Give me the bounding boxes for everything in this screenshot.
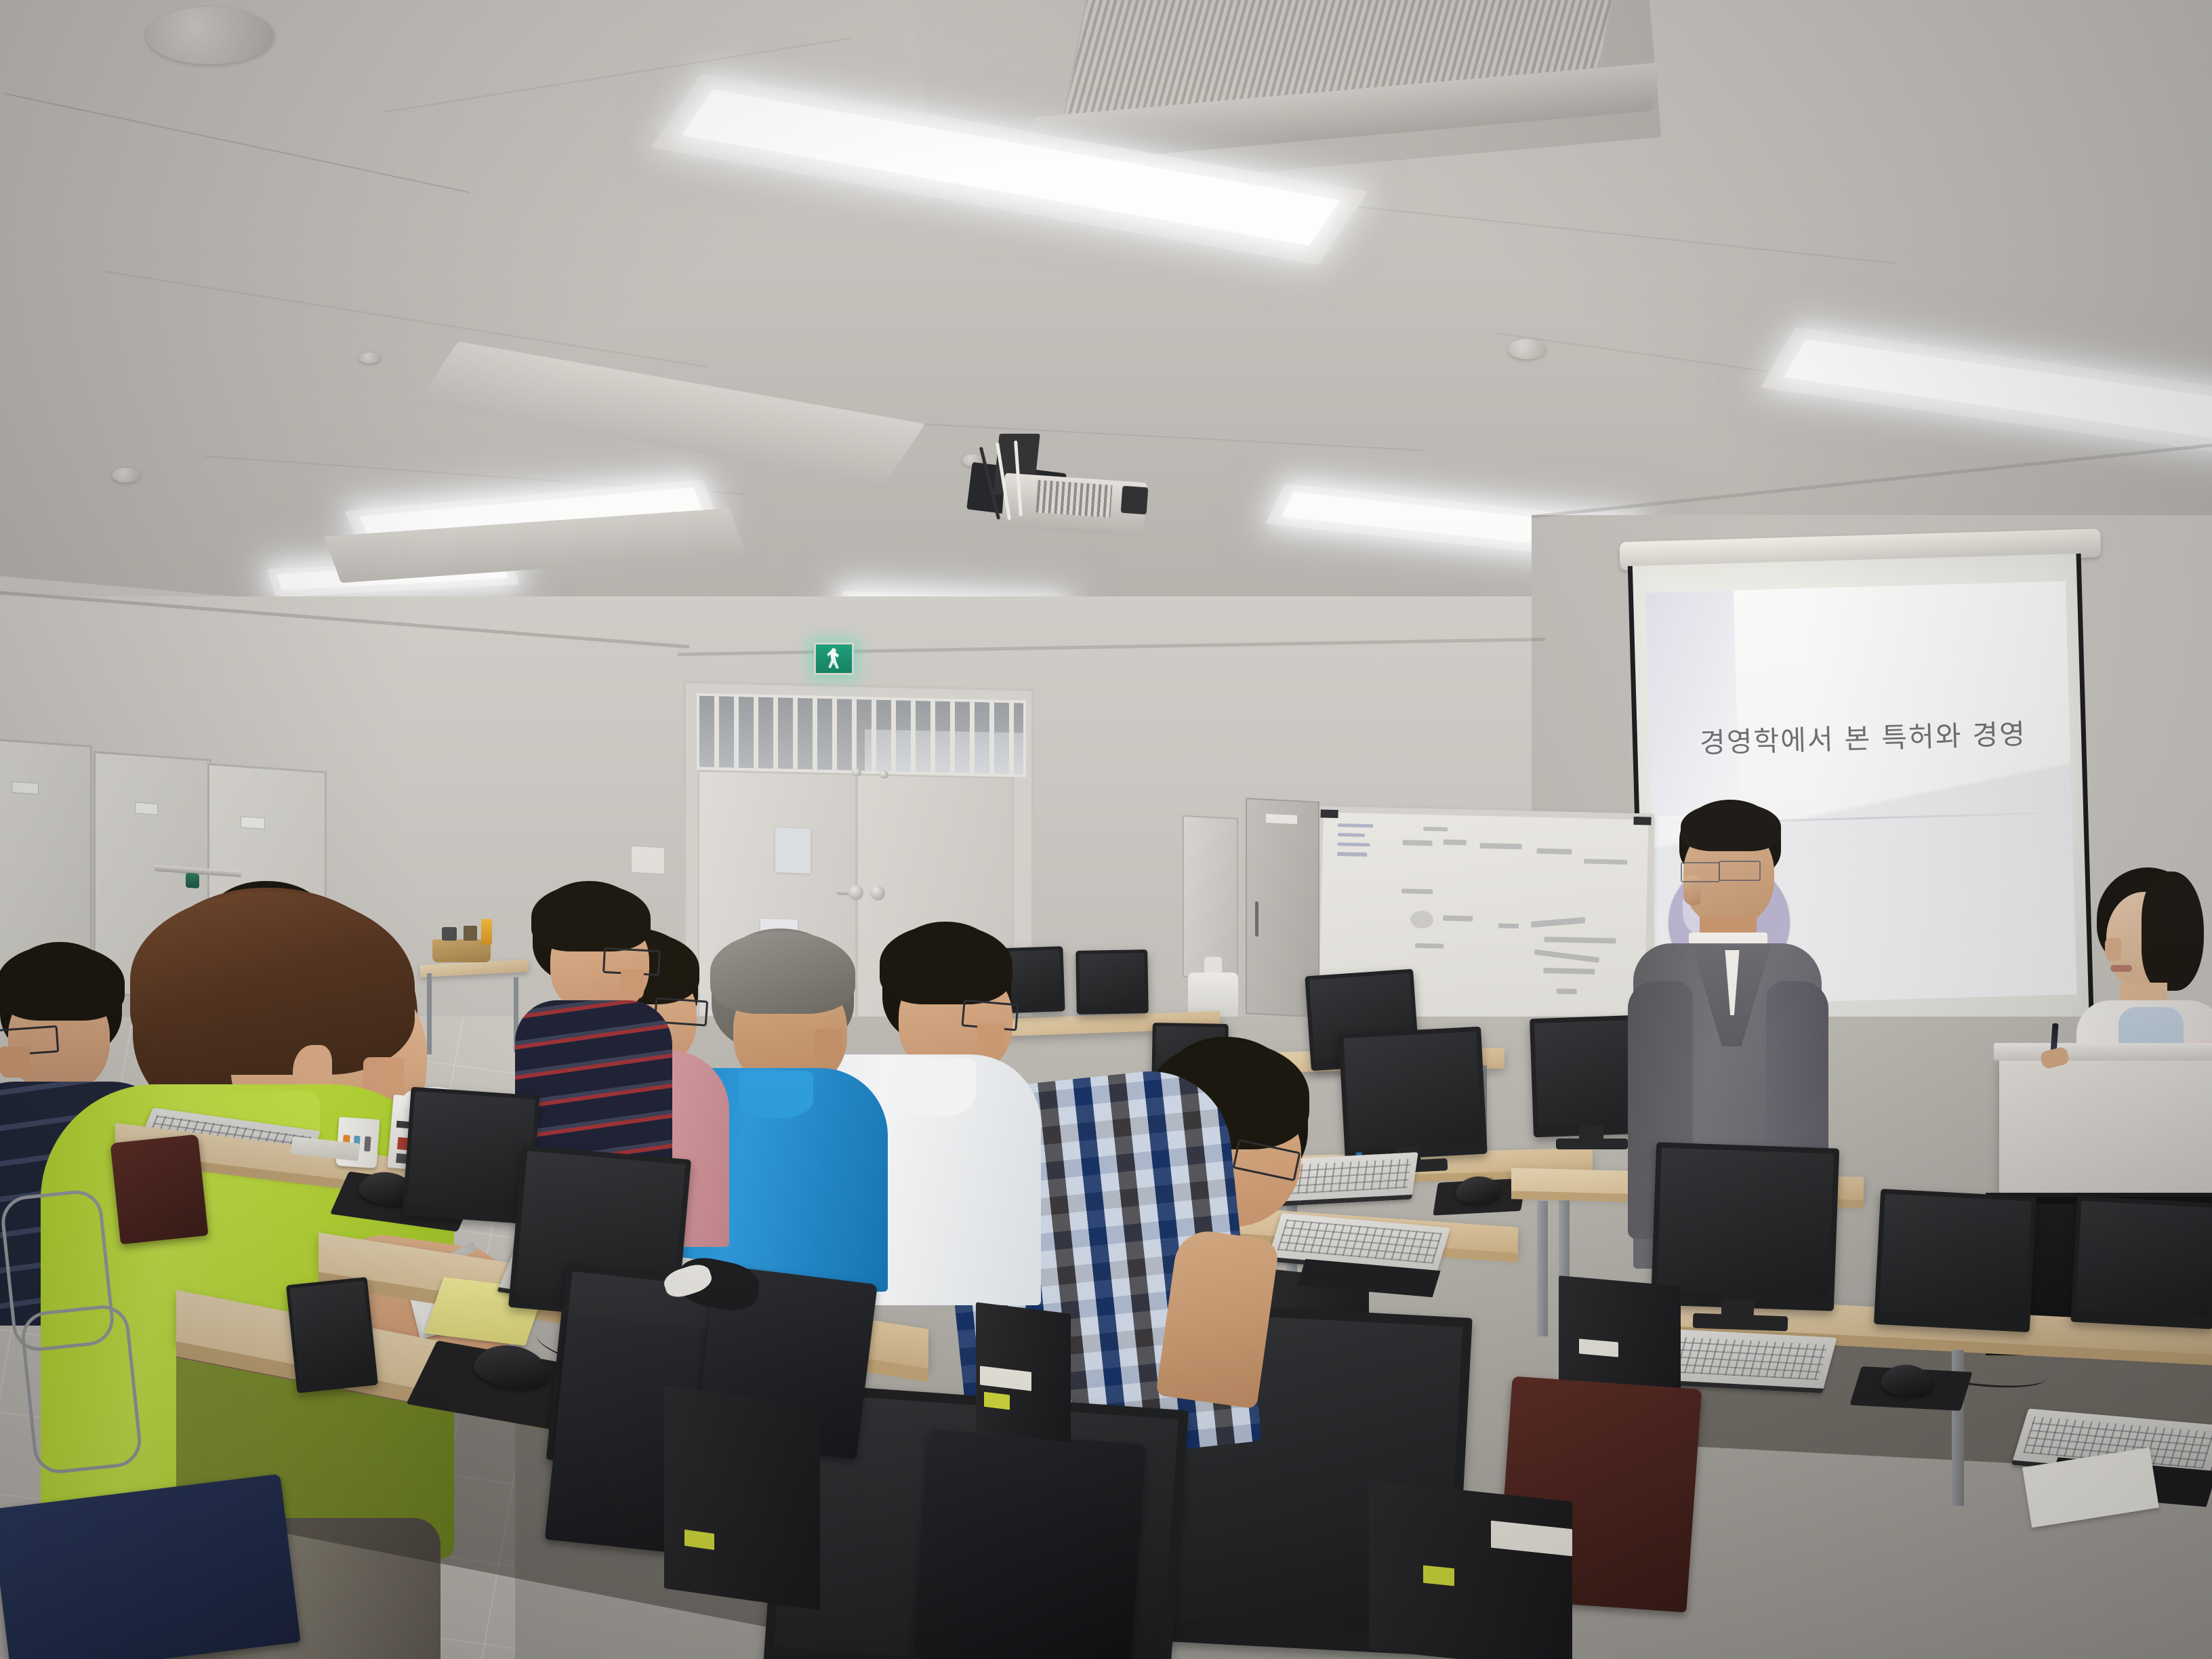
pc-tower (1369, 1480, 1572, 1659)
wall-poster (775, 827, 811, 874)
projector-lens-icon (1121, 486, 1149, 515)
monitor (1874, 1189, 2036, 1332)
door-knob-icon[interactable] (870, 885, 885, 900)
asset-tag (984, 1392, 1010, 1410)
running-person-icon (827, 648, 842, 669)
polo-collar (739, 1071, 813, 1118)
shirt-collar (895, 1059, 976, 1117)
nose (621, 969, 644, 999)
smoke-detector-icon (1508, 339, 1546, 359)
transom-window (697, 693, 1026, 777)
monitor (286, 1277, 378, 1393)
pc-tower (664, 1385, 820, 1610)
monitor-base (1556, 1139, 1628, 1149)
asset-tag (1423, 1565, 1454, 1586)
projector-vent-icon (1036, 480, 1112, 518)
chair[interactable] (110, 1134, 209, 1245)
woman-mouth (2110, 965, 2132, 972)
door-closer-icon (879, 771, 888, 779)
classroom-photo: 경영학에서 본 특허와 경영 (0, 0, 2212, 1659)
glasses-icon (1719, 861, 1761, 881)
desk-leg (1537, 1201, 1548, 1336)
door-closer-icon (852, 769, 861, 777)
smoke-detector-icon (112, 468, 140, 483)
ceiling-speaker-icon (146, 7, 274, 64)
woman-nose (2105, 938, 2121, 961)
striped-polo-man (515, 881, 705, 1166)
monitor (1076, 949, 1149, 1015)
nose (977, 1023, 1004, 1054)
monitor (2070, 1196, 2212, 1330)
wall-clock-icon (630, 845, 665, 876)
ceiling-fitting-icon (359, 352, 381, 363)
glasses-icon (1681, 862, 1720, 882)
chair-frame[interactable] (19, 1303, 144, 1475)
chair[interactable] (914, 1429, 1146, 1659)
emergency-exit-sign (814, 642, 854, 675)
nose (0, 1046, 30, 1078)
door-knob-icon[interactable] (848, 885, 863, 900)
slide-title: 경영학에서 본 특허와 경영 (1689, 711, 2036, 761)
monitor (1338, 1027, 1488, 1162)
striped-polo (515, 1000, 672, 1170)
nose (815, 1029, 842, 1064)
wall-utility-panel (1183, 815, 1238, 980)
